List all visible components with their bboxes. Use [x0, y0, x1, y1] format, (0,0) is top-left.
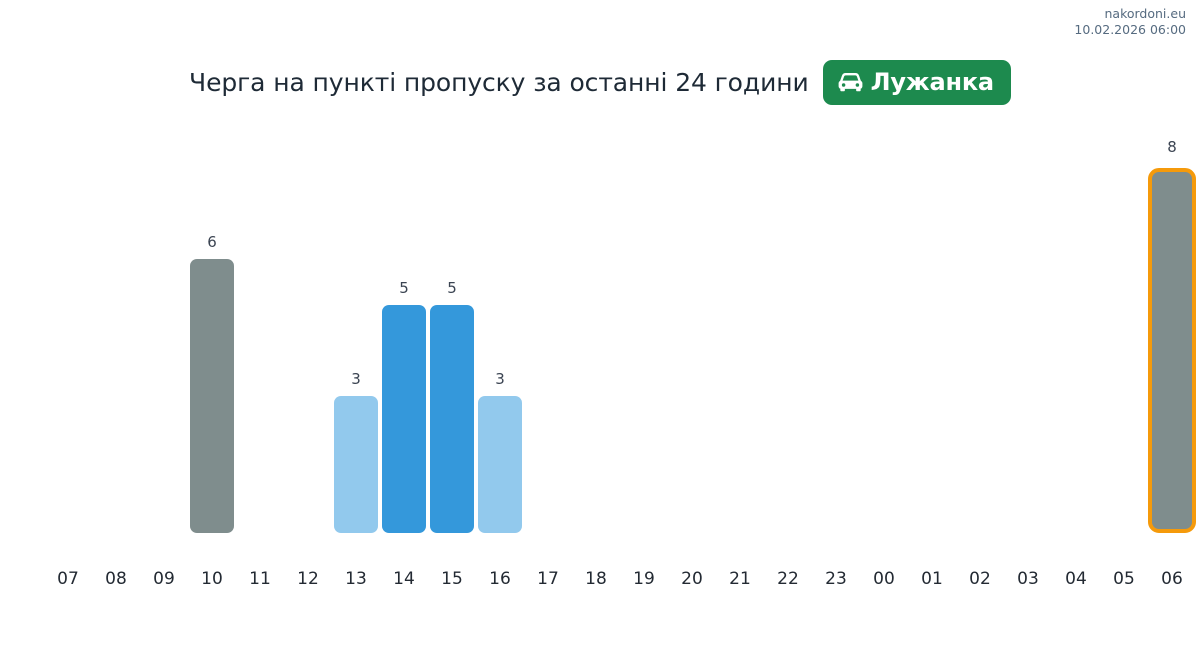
x-axis-label: 21 — [716, 569, 764, 589]
bar-slot: 5 — [428, 265, 476, 533]
bar-value-label: 5 — [380, 279, 428, 297]
bar-highlighted[interactable] — [1148, 168, 1196, 533]
x-axis-label: 06 — [1148, 569, 1196, 589]
bar-value-label: 3 — [332, 370, 380, 388]
x-axis-label: 05 — [1100, 569, 1148, 589]
bar[interactable] — [190, 259, 234, 533]
bar[interactable] — [478, 396, 522, 533]
bar-value-label: 6 — [188, 233, 236, 251]
x-axis-label: 17 — [524, 569, 572, 589]
bar-slot: 3 — [476, 356, 524, 533]
bar-value-label: 5 — [428, 279, 476, 297]
x-axis-label: 14 — [380, 569, 428, 589]
x-axis-label: 09 — [140, 569, 188, 589]
x-axis-label: 04 — [1052, 569, 1100, 589]
x-axis-label: 22 — [764, 569, 812, 589]
x-axis-label: 20 — [668, 569, 716, 589]
x-axis-label: 07 — [44, 569, 92, 589]
x-axis-label: 16 — [476, 569, 524, 589]
x-axis-label: 03 — [1004, 569, 1052, 589]
bar-chart: 0708091061112133145155163171819202122230… — [0, 0, 1200, 651]
x-axis-label: 01 — [908, 569, 956, 589]
bar-slot: 5 — [380, 265, 428, 533]
x-axis-label: 18 — [572, 569, 620, 589]
bar[interactable] — [382, 305, 426, 533]
x-axis-label: 10 — [188, 569, 236, 589]
x-axis-label: 15 — [428, 569, 476, 589]
x-axis-label: 08 — [92, 569, 140, 589]
x-axis-label: 19 — [620, 569, 668, 589]
bar-slot: 8 — [1148, 128, 1196, 533]
chart-page: nakordoni.eu 10.02.2026 06:00 Черга на п… — [0, 0, 1200, 651]
bar-slot: 3 — [332, 356, 380, 533]
x-axis-label: 02 — [956, 569, 1004, 589]
bar-value-label: 3 — [476, 370, 524, 388]
x-axis-label: 23 — [812, 569, 860, 589]
bar-slot: 6 — [188, 219, 236, 533]
bar[interactable] — [430, 305, 474, 533]
x-axis-label: 00 — [860, 569, 908, 589]
x-axis-label: 12 — [284, 569, 332, 589]
x-axis-label: 13 — [332, 569, 380, 589]
bar-value-label: 8 — [1148, 138, 1196, 156]
x-axis-label: 11 — [236, 569, 284, 589]
bar[interactable] — [334, 396, 378, 533]
